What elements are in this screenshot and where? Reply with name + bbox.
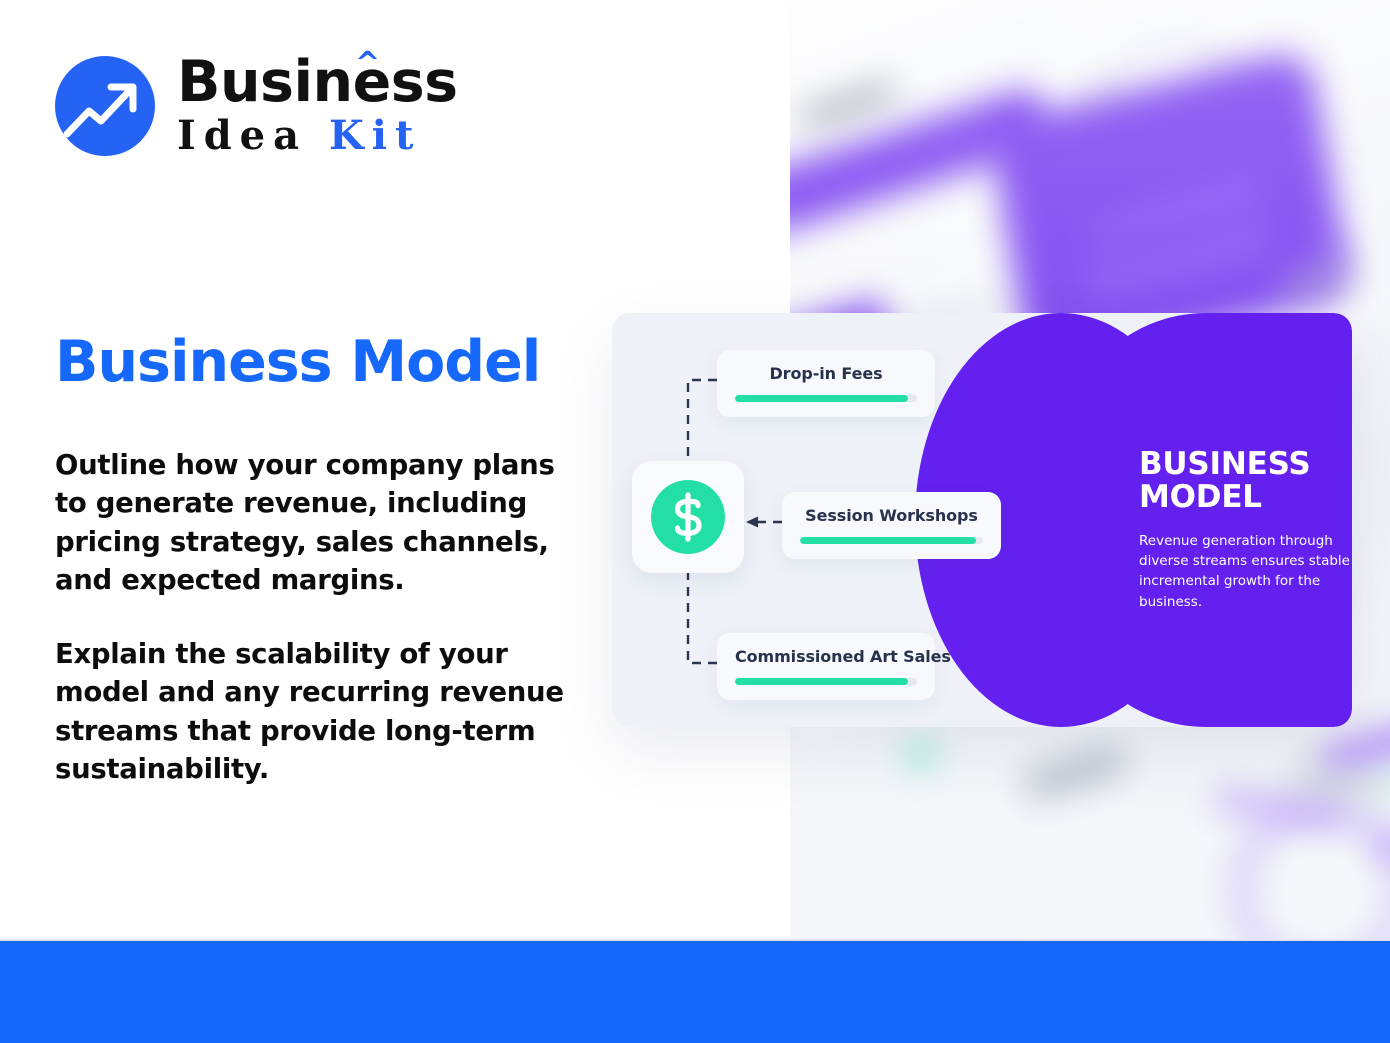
page-title: Business Model [55,333,540,393]
footer-bar [0,941,1390,1043]
brand-name-idea: Idea [177,112,307,159]
revenue-stream-card[interactable]: Session Workshops [782,492,1001,559]
description-paragraph-1: Outline how your company plans to genera… [55,446,585,600]
circumflex-accent-icon: ^ [355,49,380,79]
brand-logo: Business ^ Idea Kit [55,55,458,156]
revenue-stream-card[interactable]: Drop-in Fees [717,350,935,417]
business-model-diagram-panel: BUSINESS MODEL Revenue generation throug… [612,313,1352,727]
revenue-stream-progress-fill [800,537,976,544]
dollar-sign-icon [651,480,725,554]
brand-name-bottom: Idea Kit [177,116,458,156]
brand-name-top-text: Business [177,49,458,115]
callout-content: BUSINESS MODEL Revenue generation throug… [1139,448,1352,612]
revenue-stream-label: Drop-in Fees [735,364,917,383]
revenue-stream-card[interactable]: Commissioned Art Sales [717,633,935,700]
revenue-stream-progress-fill [735,678,908,685]
bg-purple-dot [1315,240,1339,264]
bg-teal-dot [908,742,934,768]
callout-title: BUSINESS MODEL [1139,448,1352,515]
revenue-stream-progress-fill [735,395,908,402]
callout-description: Revenue generation through diverse strea… [1139,531,1352,612]
growth-arrow-chart-icon [55,56,155,156]
revenue-stream-progress-track [735,678,917,685]
revenue-stream-label: Session Workshops [800,506,983,525]
brand-wordmark: Business ^ Idea Kit [177,55,458,156]
page-root: Business ^ Idea Kit Business Model Outli… [0,0,1390,1043]
revenue-stream-progress-track [800,537,983,544]
description-paragraph-2: Explain the scalability of your model an… [55,635,585,789]
brand-name-top: Business ^ [177,55,458,109]
revenue-hub-node[interactable] [632,461,744,573]
callout-purple-shape: BUSINESS MODEL Revenue generation throug… [1061,313,1352,727]
revenue-stream-label: Commissioned Art Sales [735,647,917,666]
revenue-stream-progress-track [735,395,917,402]
brand-name-kit: Kit [329,112,421,159]
